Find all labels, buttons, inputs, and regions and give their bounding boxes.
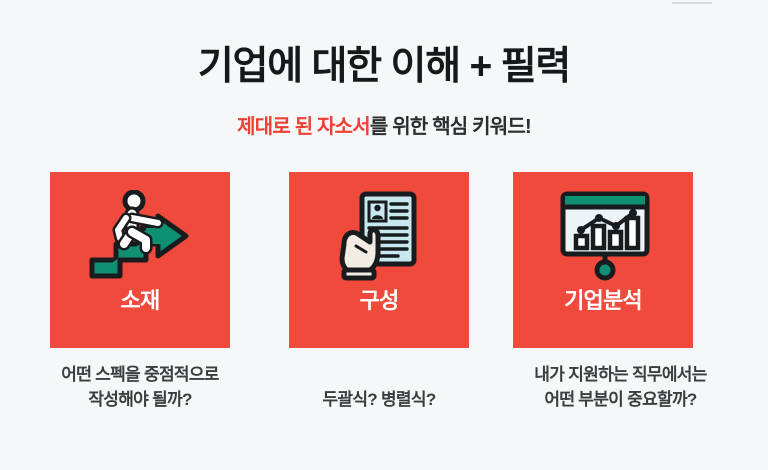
keyword-card-구성[interactable]: 구성 (289, 172, 469, 348)
presentation-bar-chart-icon (555, 190, 651, 282)
caption-line: 내가 지원하는 직무에서는 (483, 362, 758, 387)
keyword-card-기업분석[interactable]: 기업분석 (513, 172, 693, 348)
card-label: 소재 (121, 288, 160, 314)
keyword-card-group: 소재 구성 (0, 172, 768, 352)
page-title: 기업에 대한 이해 + 필력 (0, 44, 768, 90)
person-climbing-stairs-arrow-icon (86, 190, 194, 282)
card-label: 구성 (360, 288, 399, 314)
hand-holding-resume-icon (336, 190, 422, 282)
keyword-card-소재[interactable]: 소재 (50, 172, 230, 348)
subtitle-plain-text: 를 위한 핵심 키워드! (370, 116, 531, 138)
card-caption: 어떤 스펙을 중점적으로 작성해야 될까? (10, 362, 270, 412)
caption-line: 작성해야 될까? (10, 387, 270, 412)
caption-line: 어떤 부분이 중요할까? (483, 387, 758, 412)
page-subtitle: 제대로 된 자소서를 위한 핵심 키워드! (0, 114, 768, 140)
top-divider-rule (672, 2, 712, 4)
card-caption: 두괄식? 병렬식? (269, 387, 489, 412)
subtitle-accent-text: 제대로 된 자소서 (237, 116, 370, 138)
card-label: 기업분석 (564, 288, 642, 314)
card-caption: 내가 지원하는 직무에서는 어떤 부분이 중요할까? (483, 362, 758, 412)
caption-group: 어떤 스펙을 중점적으로 작성해야 될까? 두괄식? 병렬식? 내가 지원하는 … (0, 362, 768, 432)
caption-line: 어떤 스펙을 중점적으로 (10, 362, 270, 387)
caption-line: 두괄식? 병렬식? (269, 387, 489, 412)
